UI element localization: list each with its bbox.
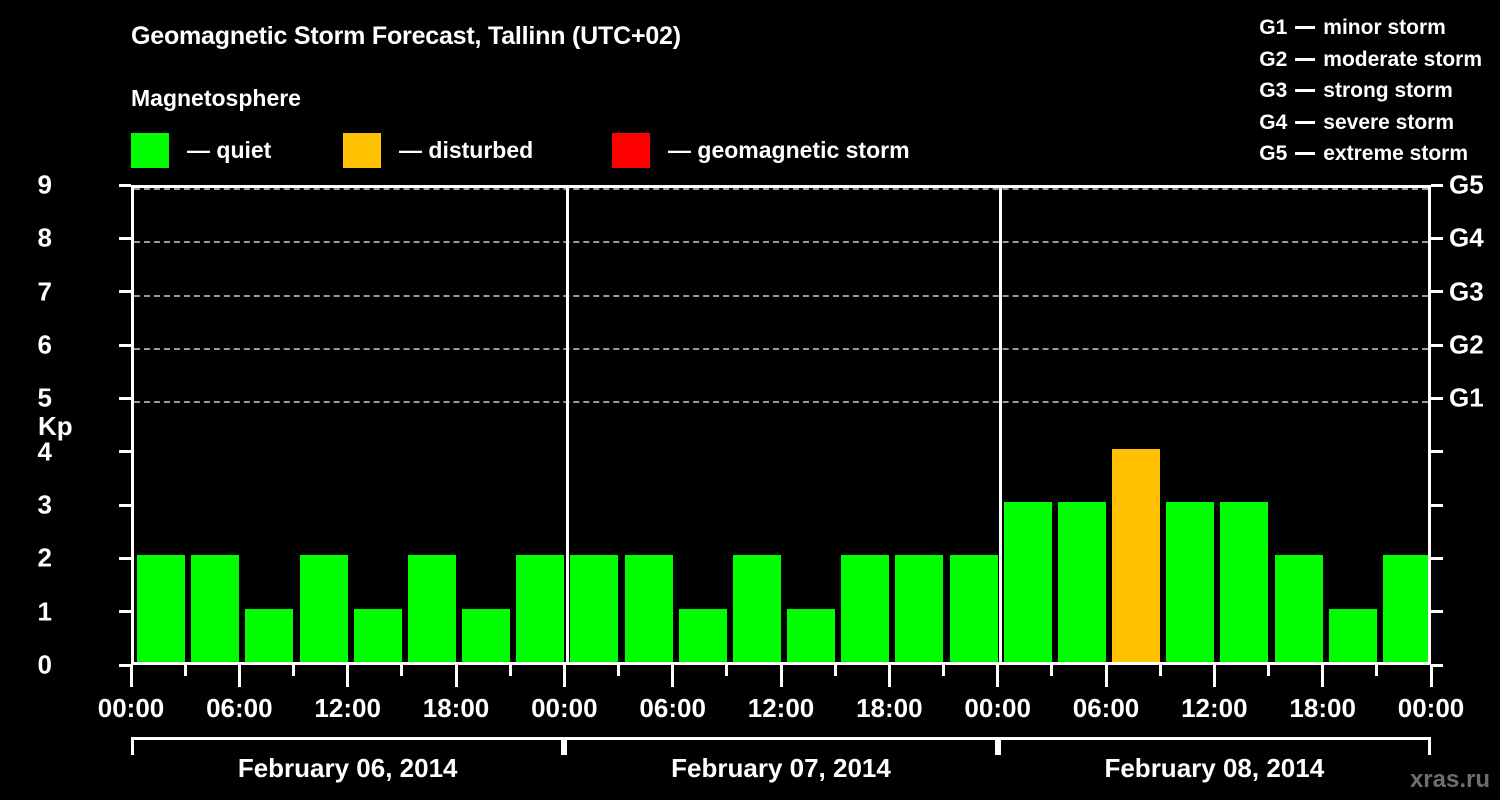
plot-area bbox=[131, 185, 1431, 665]
x-tick-label-2: 12:00 bbox=[314, 693, 381, 724]
bar bbox=[1383, 555, 1428, 662]
x-tick-minor-3 bbox=[292, 665, 295, 676]
bar bbox=[625, 555, 673, 662]
y-tick-label-3: 3 bbox=[12, 490, 52, 521]
x-tick-major-14 bbox=[888, 665, 891, 687]
day-divider bbox=[999, 188, 1002, 662]
x-tick-minor-23 bbox=[1375, 665, 1378, 676]
g-legend-dash-icon bbox=[1295, 58, 1315, 61]
x-tick-minor-11 bbox=[725, 665, 728, 676]
x-tick-minor-1 bbox=[184, 665, 187, 676]
x-tick-label-3: 18:00 bbox=[423, 693, 490, 724]
bar bbox=[1058, 502, 1106, 662]
day-label-1: February 07, 2014 bbox=[564, 753, 997, 784]
x-tick-label-0: 00:00 bbox=[98, 693, 165, 724]
bar bbox=[245, 609, 293, 662]
x-tick-major-16 bbox=[996, 665, 999, 687]
x-tick-minor-13 bbox=[834, 665, 837, 676]
g-legend-code-g5: G5 bbox=[1259, 138, 1287, 170]
bar bbox=[408, 555, 456, 662]
g-legend-desc-g1: minor storm bbox=[1323, 12, 1446, 44]
bar bbox=[462, 609, 510, 662]
g-legend-dash-icon bbox=[1295, 121, 1315, 124]
y-tick-mark-1 bbox=[119, 610, 131, 613]
day-label-2: February 08, 2014 bbox=[998, 753, 1431, 784]
g-legend-row-g3: G3strong storm bbox=[1259, 75, 1482, 107]
x-tick-label-1: 06:00 bbox=[206, 693, 273, 724]
legend-swatch-disturbed-icon bbox=[343, 133, 381, 168]
g-tick-mark-kp-2 bbox=[1431, 557, 1443, 560]
y-tick-mark-5 bbox=[119, 397, 131, 400]
g-tick-label-G4: G4 bbox=[1449, 223, 1484, 254]
y-tick-label-4: 4 bbox=[12, 436, 52, 467]
g-legend-code-g1: G1 bbox=[1259, 12, 1287, 44]
g-legend-dash-icon bbox=[1295, 89, 1315, 92]
y-tick-mark-7 bbox=[119, 290, 131, 293]
x-tick-minor-15 bbox=[942, 665, 945, 676]
bar bbox=[733, 555, 781, 662]
bar bbox=[516, 555, 564, 662]
gridline-kp-6 bbox=[134, 348, 1428, 350]
legend-label-storm: — geomagnetic storm bbox=[668, 137, 910, 164]
bar bbox=[841, 555, 889, 662]
bar bbox=[1004, 502, 1052, 662]
legend-label-disturbed: — disturbed bbox=[399, 137, 533, 164]
x-tick-major-0 bbox=[130, 665, 133, 687]
g-legend-code-g2: G2 bbox=[1259, 44, 1287, 76]
bar bbox=[354, 609, 402, 662]
g-legend-desc-g3: strong storm bbox=[1323, 75, 1453, 107]
y-tick-mark-3 bbox=[119, 504, 131, 507]
x-tick-label-11: 18:00 bbox=[1289, 693, 1356, 724]
x-tick-minor-19 bbox=[1159, 665, 1162, 676]
page-title: Geomagnetic Storm Forecast, Tallinn (UTC… bbox=[131, 22, 681, 51]
bar bbox=[787, 609, 835, 662]
bar bbox=[300, 555, 348, 662]
g-tick-mark-G1 bbox=[1431, 397, 1443, 400]
x-tick-major-22 bbox=[1321, 665, 1324, 687]
plot-inner bbox=[134, 188, 1428, 662]
g-tick-mark-kp-3 bbox=[1431, 504, 1443, 507]
g-tick-mark-kp-1 bbox=[1431, 610, 1443, 613]
legend-swatch-quiet-icon bbox=[131, 133, 169, 168]
bar bbox=[570, 555, 618, 662]
x-tick-major-2 bbox=[238, 665, 241, 687]
gridline-kp-7 bbox=[134, 295, 1428, 297]
g-legend-desc-g4: severe storm bbox=[1323, 107, 1454, 139]
bar bbox=[895, 555, 943, 662]
y-tick-label-9: 9 bbox=[12, 170, 52, 201]
bar bbox=[1275, 555, 1323, 662]
y-tick-label-8: 8 bbox=[12, 223, 52, 254]
y-tick-label-2: 2 bbox=[12, 543, 52, 574]
g-tick-label-G1: G1 bbox=[1449, 383, 1484, 414]
g-tick-mark-G5 bbox=[1431, 184, 1443, 187]
x-tick-major-12 bbox=[780, 665, 783, 687]
bar bbox=[1220, 502, 1268, 662]
y-tick-label-1: 1 bbox=[12, 596, 52, 627]
g-legend-row-g2: G2moderate storm bbox=[1259, 44, 1482, 76]
x-tick-major-10 bbox=[671, 665, 674, 687]
day-label-0: February 06, 2014 bbox=[131, 753, 564, 784]
g-legend-desc-g2: moderate storm bbox=[1323, 44, 1482, 76]
g-legend-row-g1: G1minor storm bbox=[1259, 12, 1482, 44]
legend-swatch-storm-icon bbox=[612, 133, 650, 168]
g-tick-mark-kp-4 bbox=[1431, 450, 1443, 453]
gridline-kp-8 bbox=[134, 241, 1428, 243]
x-tick-minor-21 bbox=[1267, 665, 1270, 676]
y-tick-label-7: 7 bbox=[12, 276, 52, 307]
g-tick-label-G5: G5 bbox=[1449, 170, 1484, 201]
x-tick-major-6 bbox=[455, 665, 458, 687]
g-scale-legend: G1minor stormG2moderate stormG3strong st… bbox=[1259, 12, 1482, 170]
g-legend-code-g3: G3 bbox=[1259, 75, 1287, 107]
y-tick-label-6: 6 bbox=[12, 330, 52, 361]
y-tick-label-5: 5 bbox=[12, 383, 52, 414]
g-legend-desc-g5: extreme storm bbox=[1323, 138, 1468, 170]
g-tick-mark-G2 bbox=[1431, 344, 1443, 347]
x-tick-label-10: 12:00 bbox=[1181, 693, 1248, 724]
y-tick-mark-4 bbox=[119, 450, 131, 453]
y-tick-mark-2 bbox=[119, 557, 131, 560]
x-tick-minor-9 bbox=[617, 665, 620, 676]
g-tick-label-G2: G2 bbox=[1449, 330, 1484, 361]
x-tick-major-18 bbox=[1105, 665, 1108, 687]
x-tick-label-12: 00:00 bbox=[1398, 693, 1465, 724]
x-tick-label-6: 12:00 bbox=[748, 693, 815, 724]
x-tick-minor-7 bbox=[509, 665, 512, 676]
bar bbox=[1329, 609, 1377, 662]
y-tick-mark-6 bbox=[119, 344, 131, 347]
g-tick-mark-kp-0 bbox=[1431, 664, 1443, 667]
g-legend-row-g4: G4severe storm bbox=[1259, 107, 1482, 139]
g-legend-code-g4: G4 bbox=[1259, 107, 1287, 139]
watermark: xras.ru bbox=[1410, 766, 1490, 794]
y-tick-mark-8 bbox=[119, 237, 131, 240]
x-tick-label-4: 00:00 bbox=[531, 693, 598, 724]
x-tick-label-7: 18:00 bbox=[856, 693, 923, 724]
legend-item-disturbed: — disturbed bbox=[343, 131, 533, 169]
chart-subtitle: Magnetosphere bbox=[131, 85, 301, 112]
legend-label-quiet: — quiet bbox=[187, 137, 271, 164]
day-divider bbox=[566, 188, 569, 662]
y-tick-mark-9 bbox=[119, 184, 131, 187]
bar bbox=[1112, 449, 1160, 662]
y-tick-label-0: 0 bbox=[12, 650, 52, 681]
g-legend-row-g5: G5extreme storm bbox=[1259, 138, 1482, 170]
x-tick-label-8: 00:00 bbox=[964, 693, 1031, 724]
g-tick-label-G3: G3 bbox=[1449, 276, 1484, 307]
x-tick-label-9: 06:00 bbox=[1073, 693, 1140, 724]
g-legend-dash-icon bbox=[1295, 26, 1315, 29]
bar bbox=[1166, 502, 1214, 662]
bar bbox=[137, 555, 185, 662]
bar bbox=[191, 555, 239, 662]
bar bbox=[950, 555, 998, 662]
x-tick-minor-17 bbox=[1050, 665, 1053, 676]
x-tick-major-4 bbox=[346, 665, 349, 687]
g-tick-mark-G3 bbox=[1431, 290, 1443, 293]
x-tick-major-24 bbox=[1430, 665, 1433, 687]
legend-item-storm: — geomagnetic storm bbox=[612, 131, 910, 169]
g-tick-mark-G4 bbox=[1431, 237, 1443, 240]
bar bbox=[679, 609, 727, 662]
gridline-kp-5 bbox=[134, 401, 1428, 403]
g-legend-dash-icon bbox=[1295, 152, 1315, 155]
x-tick-minor-5 bbox=[400, 665, 403, 676]
x-tick-major-20 bbox=[1213, 665, 1216, 687]
x-tick-label-5: 06:00 bbox=[639, 693, 706, 724]
x-tick-major-8 bbox=[563, 665, 566, 687]
gridline-kp-9 bbox=[134, 188, 1428, 190]
legend-item-quiet: — quiet bbox=[131, 131, 271, 169]
